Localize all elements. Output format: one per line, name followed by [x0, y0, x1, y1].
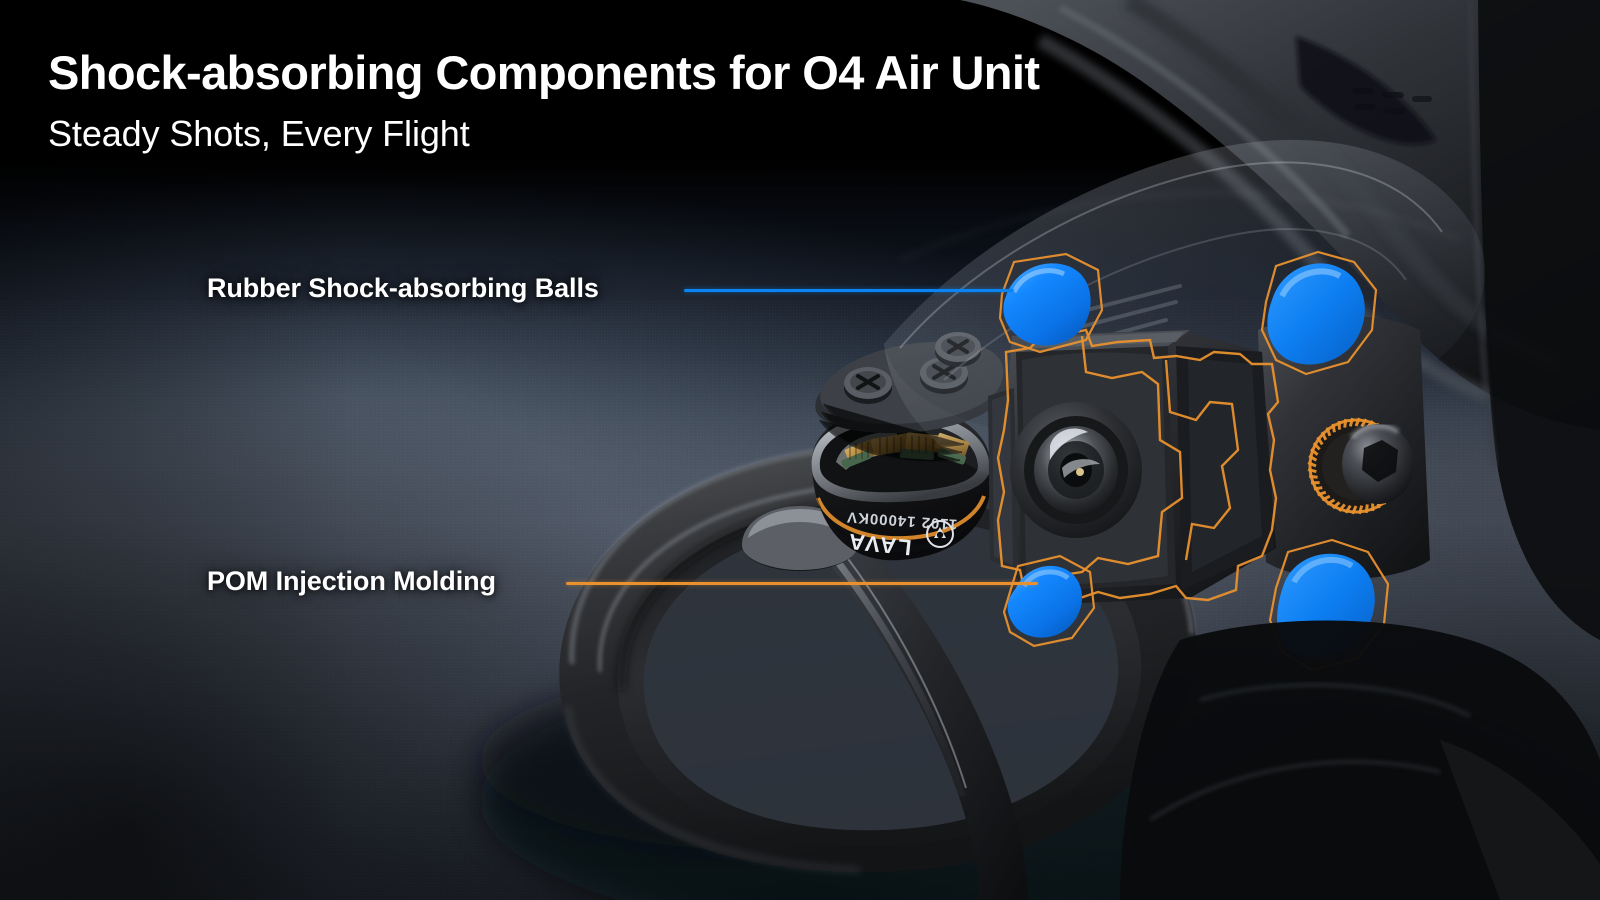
- callout-leader-line-balls: [684, 289, 1014, 292]
- product-feature-banner: 1102 14000KV LAVA: [0, 0, 1600, 900]
- page-subtitle: Steady Shots, Every Flight: [48, 114, 470, 154]
- callout-label-rubber-shock-absorbing-balls: Rubber Shock-absorbing Balls: [207, 273, 599, 304]
- callout-label-pom-injection-molding: POM Injection Molding: [207, 566, 496, 597]
- page-title: Shock-absorbing Components for O4 Air Un…: [48, 48, 1039, 98]
- callout-leader-line-pom: [566, 582, 1038, 585]
